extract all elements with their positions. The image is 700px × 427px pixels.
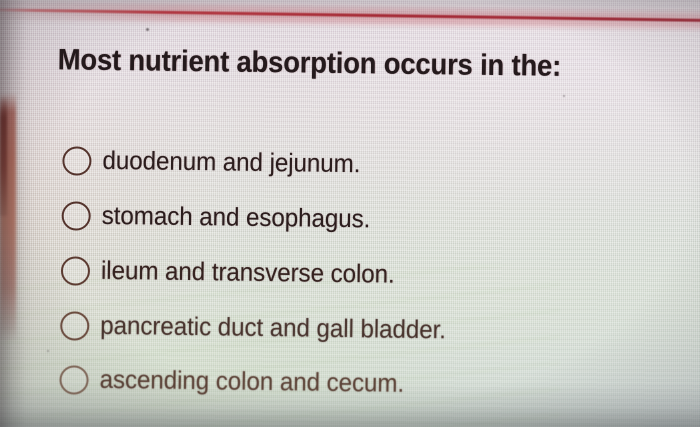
radio-button-icon[interactable] (62, 201, 91, 230)
answer-option-1[interactable]: duodenum and jejunum. (62, 146, 374, 179)
radio-button-icon[interactable] (59, 365, 88, 394)
answer-option-2[interactable]: stomach and esophagus. (62, 201, 385, 234)
photographed-screen: Most nutrient absorption occurs in the: … (0, 0, 700, 427)
quiz-content: Most nutrient absorption occurs in the: … (0, 0, 700, 427)
answer-option-label: ileum and transverse colon. (101, 258, 395, 289)
answer-option-5[interactable]: ascending colon and cecum. (59, 365, 420, 399)
answer-option-3[interactable]: ileum and transverse colon. (61, 256, 410, 290)
radio-button-icon[interactable] (61, 256, 90, 285)
answer-option-label: pancreatic duct and gall bladder. (100, 313, 446, 344)
answer-options-list: duodenum and jejunum. stomach and esopha… (0, 0, 700, 427)
radio-button-icon[interactable] (60, 311, 89, 340)
answer-option-4[interactable]: pancreatic duct and gall bladder. (60, 311, 464, 345)
answer-option-label: ascending colon and cecum. (99, 367, 404, 398)
answer-option-label: duodenum and jejunum. (102, 148, 360, 178)
answer-option-label: stomach and esophagus. (102, 203, 371, 233)
radio-button-icon[interactable] (62, 146, 91, 175)
